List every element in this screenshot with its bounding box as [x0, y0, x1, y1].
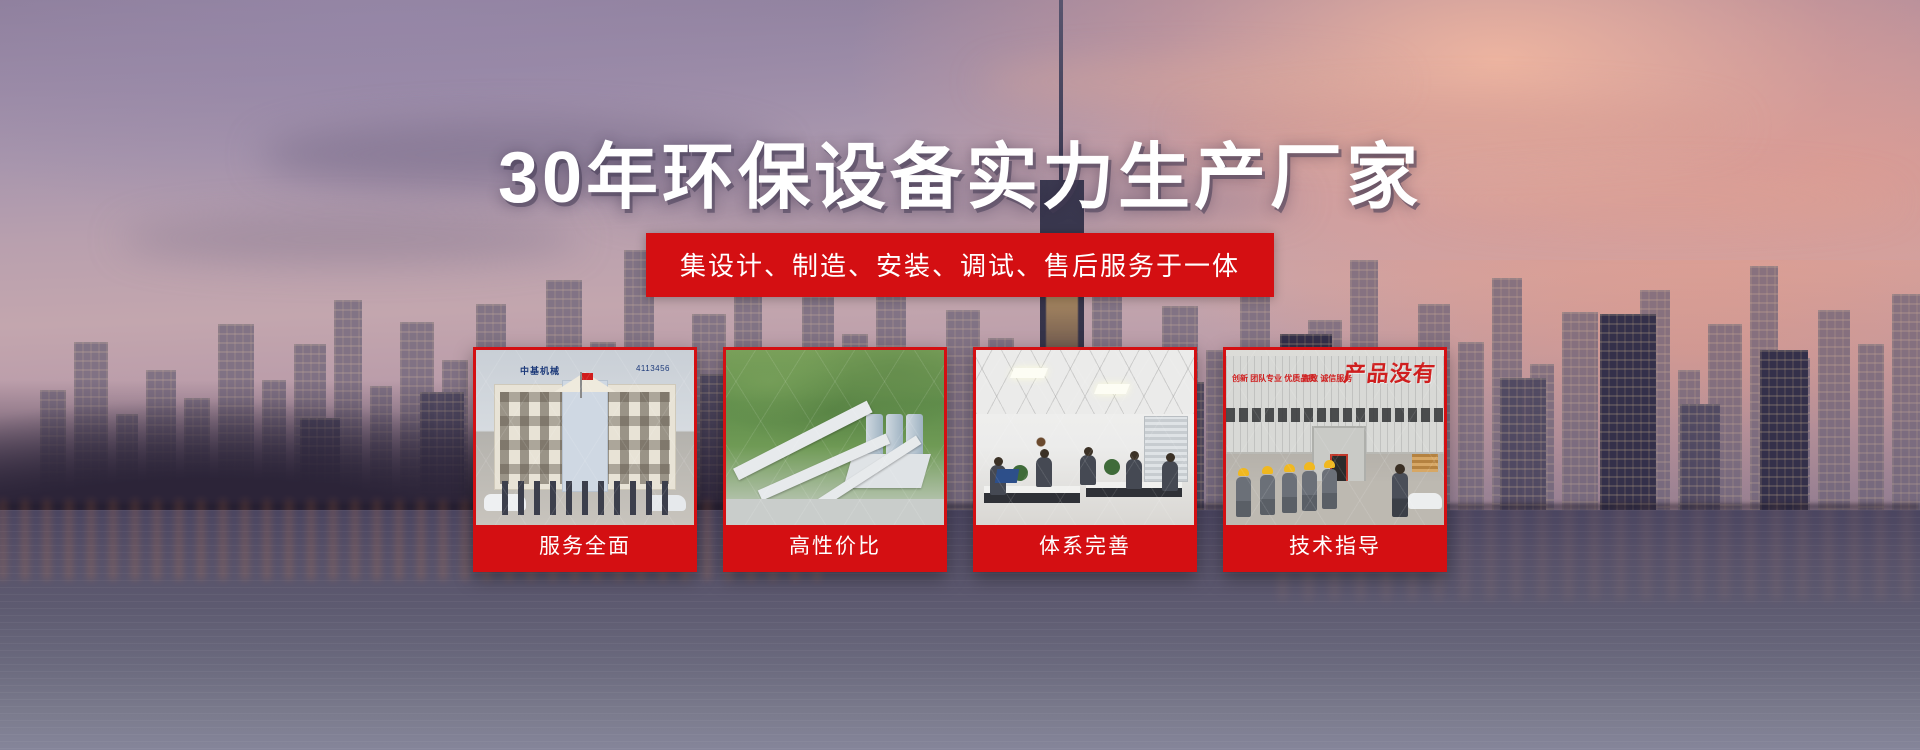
factory-wall-slogan: 产品没有	[1342, 356, 1437, 388]
feature-card[interactable]: 体系完善	[973, 347, 1197, 572]
card-photo-office-interior	[976, 350, 1194, 525]
card-label: 服务全面	[476, 525, 694, 569]
card-photo-factory-workers: 产品没有 创新 团队 专业 优质品质 高效 诚信服务	[1226, 350, 1444, 525]
card-label: 体系完善	[976, 525, 1194, 569]
feature-card[interactable]: 高性价比	[723, 347, 947, 572]
building-sign-text: 中基机械	[520, 364, 560, 377]
card-photo-office-building: 中基机械 4113456	[476, 350, 694, 525]
card-label: 技术指导	[1226, 525, 1444, 569]
feature-card[interactable]: 产品没有 创新 团队 专业 优质品质 高效 诚信服务 技术指导	[1223, 347, 1447, 572]
factory-wall-small-1: 创新 团队	[1232, 374, 1266, 383]
subtitle-banner: 集设计、制造、安装、调试、售后服务于一体	[646, 233, 1274, 297]
subtitle-bar-wrapper: 集设计、制造、安装、调试、售后服务于一体	[0, 233, 1920, 297]
building-phone-text: 4113456	[636, 364, 670, 373]
feature-card-list: 中基机械 4113456 服务全面	[0, 347, 1920, 572]
hero-banner: 30年环保设备实力生产厂家 集设计、制造、安装、调试、售后服务于一体 中基机械 …	[0, 0, 1920, 750]
page-title: 30年环保设备实力生产厂家	[0, 118, 1920, 223]
card-photo-aerial-plant	[726, 350, 944, 525]
factory-wall-small-3: 高效 诚信服务	[1302, 374, 1352, 383]
card-label: 高性价比	[726, 525, 944, 569]
feature-card[interactable]: 中基机械 4113456 服务全面	[473, 347, 697, 572]
